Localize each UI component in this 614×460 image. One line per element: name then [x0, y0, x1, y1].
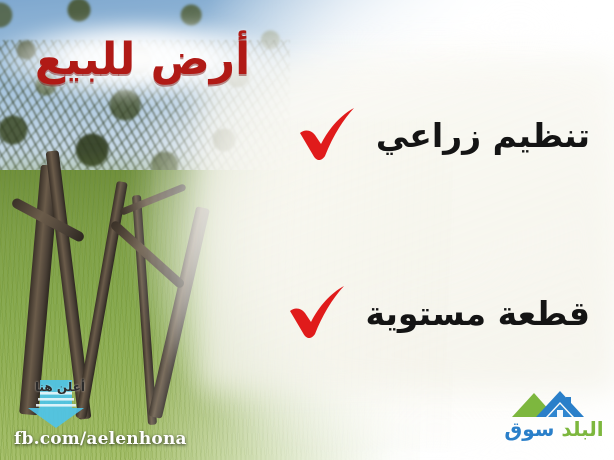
house-roof-logo-icon	[510, 388, 598, 418]
land-for-sale-ad-banner: أرض للبيع تنظيم زراعي قطعة مستوية أعلن ه…	[0, 0, 614, 460]
red-check-icon	[286, 284, 348, 342]
facebook-url[interactable]: fb.com/aelenhona	[14, 429, 187, 449]
feature-row-2: قطعة مستوية	[286, 284, 590, 342]
logo-word-secondary: البلد	[561, 417, 603, 441]
red-check-icon	[296, 106, 358, 164]
site-logo[interactable]: البلد سوق	[502, 388, 606, 446]
logo-wordmark: البلد سوق	[502, 416, 606, 442]
feature-row-1: تنظيم زراعي	[296, 106, 590, 164]
advertise-here-label: أعلن هنا	[33, 379, 87, 395]
logo-word-primary: سوق	[504, 417, 554, 441]
page-title: أرض للبيع	[0, 24, 285, 94]
feature-label-1: تنظيم زراعي	[376, 116, 590, 155]
feature-label-2: قطعة مستوية	[366, 294, 590, 333]
